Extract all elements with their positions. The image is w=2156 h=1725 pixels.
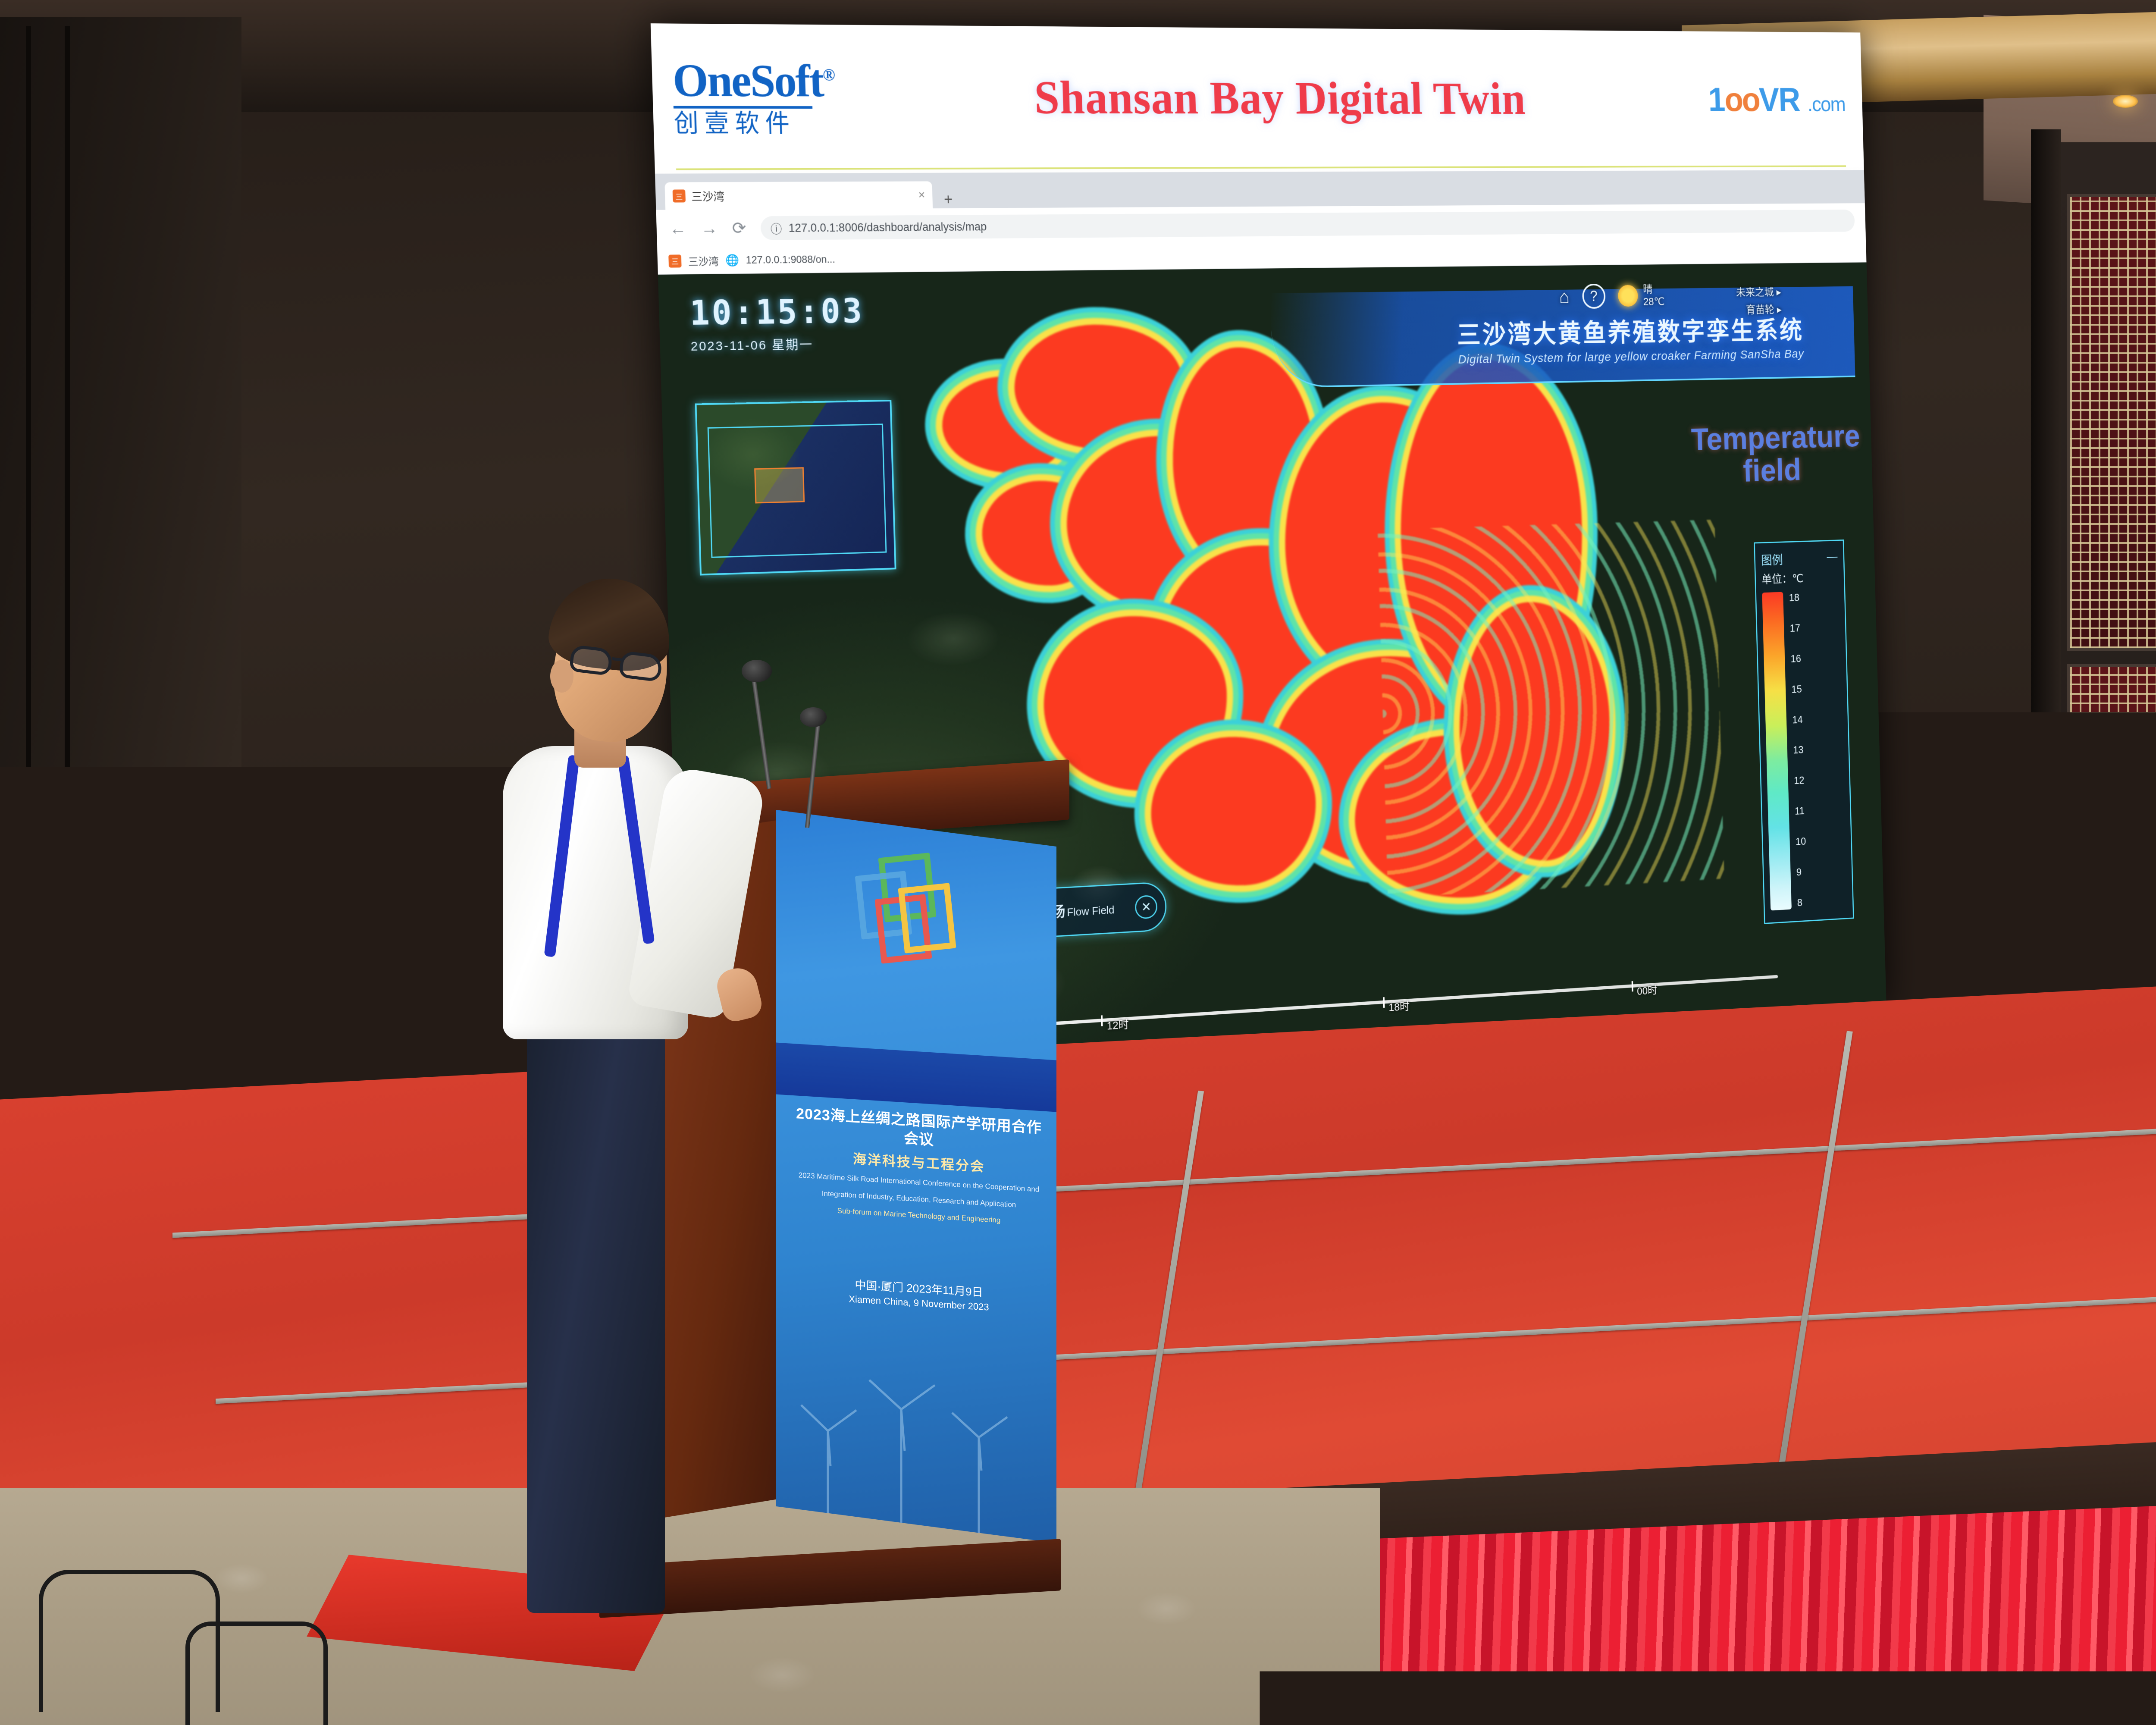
floor-railing: [185, 1621, 328, 1725]
legend-header-row: 图例 —: [1761, 548, 1838, 568]
url-text: 127.0.0.1:8006/dashboard/analysis/map: [788, 220, 987, 235]
partner-logo: 1ooVR .com: [1689, 82, 1846, 116]
menu-item-0[interactable]: 未来之城 ▸: [1736, 283, 1781, 301]
legend-tick-7: 11: [1795, 805, 1805, 818]
clock-time: 10:15:03: [689, 292, 865, 333]
temperature-legend: 图例 — 单位：℃ 18 17 16 15 14: [1754, 539, 1854, 924]
minimap-roi-box[interactable]: [754, 467, 805, 503]
globe-icon: 🌐: [725, 254, 740, 267]
podium-signage-panel: 2023海上丝绸之路国际产学研用合作会议 海洋科技与工程分会 2023 Mari…: [776, 810, 1056, 1543]
site-info-icon[interactable]: ⓘ: [770, 220, 782, 236]
browser-tab[interactable]: 三 三沙湾 ×: [664, 181, 933, 210]
speaker-person: [461, 530, 772, 1617]
bookmark-url[interactable]: 127.0.0.1:9088/on...: [746, 254, 835, 267]
logo-rect-yellow: [898, 883, 956, 953]
ceiling-light: [2113, 95, 2138, 108]
registered-mark: ®: [822, 65, 834, 85]
close-icon[interactable]: ✕: [1135, 895, 1158, 919]
legend-tick-10: 8: [1797, 896, 1808, 909]
time-tick-label-3: 00时: [1637, 982, 1658, 998]
partner-logo-vr: VR: [1758, 81, 1800, 118]
legend-body: 18 17 16 15 14 13 12 11 10 9 8: [1762, 590, 1847, 910]
legend-colorbar: [1762, 592, 1792, 911]
time-tick-1: 12时: [1101, 1015, 1103, 1026]
temperature-contour-rings: [1378, 520, 1724, 898]
legend-ticks: 18 17 16 15 14 13 12 11 10 9 8: [1789, 591, 1808, 909]
time-tick-3: 00时: [1632, 981, 1633, 991]
podium-color-band: [776, 1043, 1056, 1112]
tab-title: 三沙湾: [691, 188, 725, 204]
annotation-line-2: field: [1692, 452, 1852, 489]
bookmark-label[interactable]: 三沙湾: [688, 253, 719, 269]
legend-unit: 单位：℃: [1761, 568, 1838, 587]
wind-turbine-graphic: [776, 1358, 1056, 1543]
slide-header: OneSoft® 创壹软件 Shansan Bay Digital Twin 1…: [651, 23, 1864, 170]
tab-favicon-icon: 三: [673, 189, 686, 202]
map-clock: 10:15:03 2023-11-06 星期一: [689, 292, 865, 354]
onesoft-name: OneSoft: [672, 55, 824, 107]
microphone-head-icon: [800, 707, 827, 727]
reload-icon[interactable]: ⟳: [732, 219, 746, 238]
legend-tick-2: 16: [1790, 652, 1801, 665]
presentation-scene: OneSoft® 创壹软件 Shansan Bay Digital Twin 1…: [0, 0, 2156, 1725]
close-icon[interactable]: ×: [918, 188, 925, 202]
back-icon[interactable]: ←: [669, 219, 687, 238]
map-top-menu: 未来之城 ▸ 育苗轮 ▸: [1736, 283, 1782, 319]
legend-tick-9: 9: [1796, 866, 1807, 878]
menu-item-1[interactable]: 育苗轮 ▸: [1736, 301, 1782, 319]
weather-widget: 晴 28℃: [1617, 283, 1665, 308]
podium-venue-date: 中国·厦门 2023年11月9日 Xiamen China, 9 Novembe…: [791, 1272, 1047, 1316]
legend-tick-5: 13: [1793, 744, 1804, 757]
legend-tick-1: 17: [1789, 622, 1800, 634]
stage-seam: [1131, 1091, 1204, 1521]
new-tab-icon[interactable]: +: [944, 191, 953, 208]
partner-logo-oo: oo: [1724, 81, 1759, 118]
podium-conference-title: 2023海上丝绸之路国际产学研用合作会议 海洋科技与工程分会 2023 Mari…: [791, 1104, 1047, 1229]
weather-condition: 晴: [1643, 283, 1664, 296]
partner-logo-1: 1: [1708, 81, 1725, 118]
speaker-trousers: [527, 1005, 665, 1613]
legend-tick-8: 10: [1796, 835, 1806, 848]
bookmark-favicon-icon: 三: [668, 254, 681, 267]
conference-logo: [858, 855, 970, 985]
help-icon[interactable]: ?: [1582, 284, 1606, 309]
clock-date: 2023-11-06 星期一: [690, 333, 865, 354]
legend-title: 图例: [1761, 550, 1783, 568]
legend-tick-0: 18: [1789, 591, 1799, 604]
forward-icon[interactable]: →: [701, 219, 718, 238]
sun-icon: [1617, 285, 1638, 307]
partner-logo-com: .com: [1807, 93, 1846, 116]
stage-seam: [1775, 1031, 1853, 1487]
time-tick-label-1: 12时: [1106, 1016, 1129, 1033]
field-flow-en: Flow Field: [1067, 903, 1115, 919]
home-icon[interactable]: ⌂: [1559, 285, 1570, 307]
legend-tick-6: 12: [1794, 774, 1805, 787]
annotation-line-1: Temperature: [1691, 420, 1851, 456]
time-tick-2: 18时: [1383, 997, 1385, 1008]
map-topbar-controls: ⌂ ? 晴 28℃: [1559, 283, 1665, 309]
onesoft-logo: OneSoft® 创壹软件: [672, 58, 855, 136]
address-bar[interactable]: ⓘ 127.0.0.1:8006/dashboard/analysis/map: [760, 210, 1855, 240]
slide-annotation: Temperature field: [1691, 420, 1852, 489]
onesoft-name-cn: 创壹软件: [674, 111, 855, 136]
time-tick-label-2: 18时: [1388, 998, 1410, 1014]
weather-temperature: 28℃: [1643, 295, 1664, 308]
slide-title: Shansan Bay Digital Twin: [853, 70, 1690, 125]
legend-tick-3: 15: [1791, 683, 1802, 696]
legend-collapse-icon[interactable]: —: [1827, 550, 1838, 564]
legend-tick-4: 14: [1792, 713, 1803, 726]
